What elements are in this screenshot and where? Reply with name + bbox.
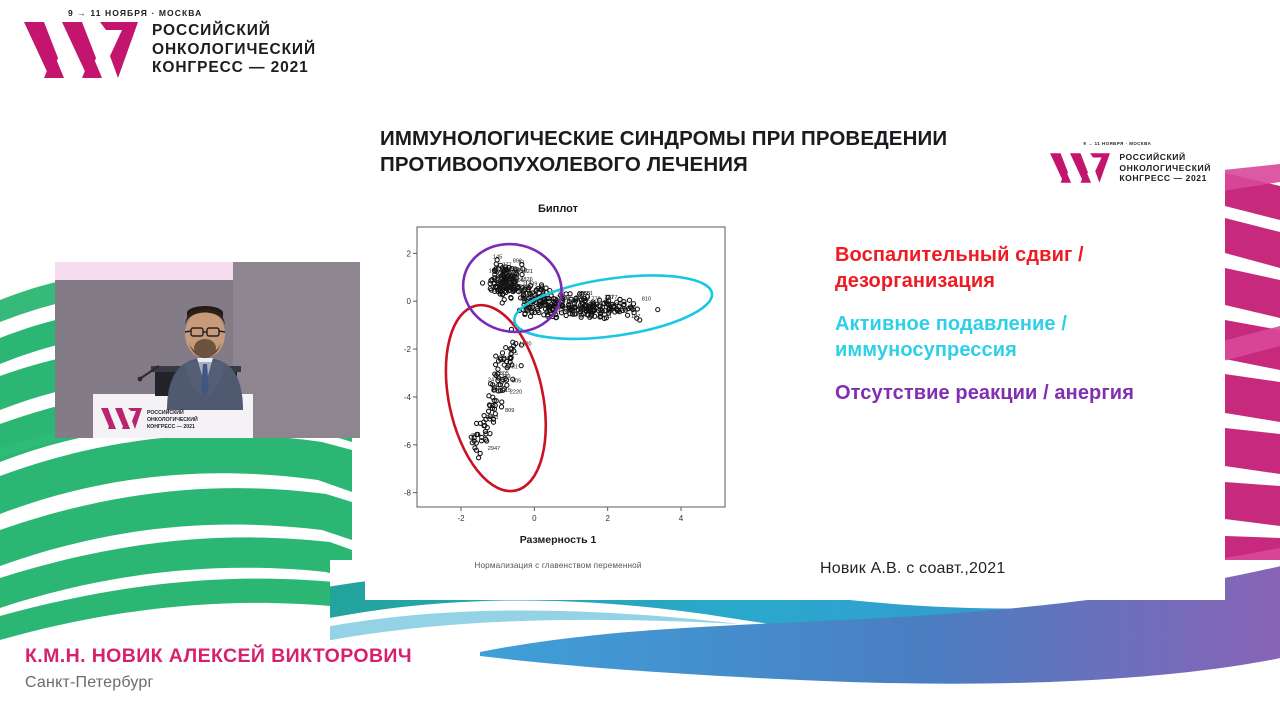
congress-logo-text: РОССИЙСКИЙ ОНКОЛОГИЧЕСКИЙ КОНГРЕСС — 202… xyxy=(152,22,316,79)
slide-logo-line-1: РОССИЙСКИЙ xyxy=(1119,152,1211,163)
svg-text:377: 377 xyxy=(502,263,511,269)
congress-logo-row: РОССИЙСКИЙ ОНКОЛОГИЧЕСКИЙ КОНГРЕСС — 202… xyxy=(22,20,316,80)
congress-line-2: ОНКОЛОГИЧЕСКИЙ xyxy=(152,41,316,60)
svg-text:269: 269 xyxy=(505,284,514,290)
x-axis-label: Размерность 1 xyxy=(383,534,733,546)
svg-text:-8: -8 xyxy=(404,489,412,498)
speaker-caption: К.М.Н. НОВИК АЛЕКСЕЙ ВИКТОРОВИЧ Санкт-Пе… xyxy=(25,645,412,692)
slide-title: ИММУНОЛОГИЧЕСКИЕ СИНДРОМЫ ПРИ ПРОВЕДЕНИИ… xyxy=(380,126,980,178)
svg-text:2: 2 xyxy=(407,249,412,258)
svg-text:2055: 2055 xyxy=(578,291,590,297)
svg-text:4: 4 xyxy=(679,514,684,523)
slide-logo-line-3: КОНГРЕСС — 2021 xyxy=(1119,173,1211,184)
podium-logo-line-3: КОНГРЕСС — 2021 xyxy=(147,424,195,430)
svg-text:2947: 2947 xyxy=(488,446,500,452)
slide-congress-logo: 9 → 11 НОЯБРЯ · МОСКВА РОССИЙСКИЙ ОНКОЛО… xyxy=(1049,152,1211,184)
svg-text:1798: 1798 xyxy=(573,298,585,304)
svg-text:2349: 2349 xyxy=(507,277,519,283)
svg-text:-2: -2 xyxy=(404,345,412,354)
svg-text:159: 159 xyxy=(489,269,498,275)
svg-text:1761: 1761 xyxy=(505,365,517,371)
speaker-name: К.М.Н. НОВИК АЛЕКСЕЙ ВИКТОРОВИЧ xyxy=(25,645,412,668)
chart-title: Биплот xyxy=(383,203,733,215)
slide-logo-date: 9 → 11 НОЯБРЯ · МОСКВА xyxy=(1083,141,1151,146)
slide-attribution: Новик А.В. с соавт.,2021 xyxy=(820,560,1005,578)
svg-text:0: 0 xyxy=(407,297,412,306)
svg-text:2: 2 xyxy=(605,514,610,523)
congress-logo-header: 9 → 11 НОЯБРЯ · МОСКВА РОССИЙСКИЙ ОНКОЛО… xyxy=(22,8,316,80)
svg-text:328: 328 xyxy=(471,433,480,439)
chart-caption: Нормализация с главенством переменной xyxy=(383,561,733,570)
svg-text:809: 809 xyxy=(505,408,514,414)
svg-text:-2: -2 xyxy=(457,514,465,523)
svg-text:1635: 1635 xyxy=(624,306,636,312)
legend-entry-suppression: Активное подавление / иммуносупрессия xyxy=(835,312,1165,363)
svg-text:772: 772 xyxy=(591,297,600,303)
congress-date-line: 9 → 11 НОЯБРЯ · МОСКВА xyxy=(68,8,316,18)
podium-logo-line-1: РОССИЙСКИЙ xyxy=(147,408,184,416)
congress-line-3: КОНГРЕСС — 2021 xyxy=(152,59,316,78)
svg-text:24: 24 xyxy=(488,378,494,384)
svg-text:0: 0 xyxy=(532,514,537,523)
video-frame: РОССИЙСКИЙ ОНКОЛОГИЧЕСКИЙ КОНГРЕСС — 202… xyxy=(55,262,360,438)
svg-text:892: 892 xyxy=(513,259,522,265)
legend-entry-anergy: Отсутствие реакции / анергия xyxy=(835,381,1165,407)
syndrome-legend: Воспалительный сдвиг / дезорганизация Ак… xyxy=(835,243,1165,425)
svg-text:2826: 2826 xyxy=(520,277,532,283)
legend-entry-inflammatory: Воспалительный сдвиг / дезорганизация xyxy=(835,243,1165,294)
podium-logo-line-2: ОНКОЛОГИЧЕСКИЙ xyxy=(147,415,198,423)
svg-text:1377: 1377 xyxy=(605,295,617,301)
svg-text:805: 805 xyxy=(512,378,521,384)
svg-text:-6: -6 xyxy=(404,441,412,450)
svg-text:215: 215 xyxy=(509,351,518,357)
svg-text:3010: 3010 xyxy=(515,268,527,274)
svg-text:-4: -4 xyxy=(404,393,412,402)
svg-text:829: 829 xyxy=(584,305,593,311)
svg-text:223: 223 xyxy=(526,306,535,312)
slide-panel: ИММУНОЛОГИЧЕСКИЕ СИНДРОМЫ ПРИ ПРОВЕДЕНИИ… xyxy=(365,108,1225,600)
svg-text:145: 145 xyxy=(493,254,502,260)
slide-logo-text: РОССИЙСКИЙ ОНКОЛОГИЧЕСКИЙ КОНГРЕСС — 202… xyxy=(1119,152,1211,184)
svg-text:804: 804 xyxy=(599,310,608,316)
biplot-chart: Биплот Размерность 2 Размерность 1 Норма… xyxy=(383,203,763,588)
speaker-video-thumbnail[interactable]: РОССИЙСКИЙ ОНКОЛОГИЧЕСКИЙ КОНГРЕСС — 202… xyxy=(55,262,360,438)
svg-text:2843: 2843 xyxy=(486,415,498,421)
svg-text:1389: 1389 xyxy=(498,374,510,380)
congress-line-1: РОССИЙСКИЙ xyxy=(152,22,316,41)
svg-text:810: 810 xyxy=(642,297,651,303)
svg-text:2220: 2220 xyxy=(510,390,522,396)
slide-logo-line-2: ОНКОЛОГИЧЕСКИЙ xyxy=(1119,163,1211,174)
plot-canvas: -202420-2-4-6-8 139145106157130113159182… xyxy=(383,217,733,535)
svg-text:1296: 1296 xyxy=(611,307,623,313)
speaker-city: Санкт-Петербург xyxy=(25,674,412,692)
slide-xxv-mark-icon xyxy=(1049,152,1111,184)
svg-text:107: 107 xyxy=(631,314,640,320)
xxv-mark-icon xyxy=(22,20,140,80)
presentation-stage: 9 → 11 НОЯБРЯ · МОСКВА РОССИЙСКИЙ ОНКОЛО… xyxy=(0,0,1280,720)
